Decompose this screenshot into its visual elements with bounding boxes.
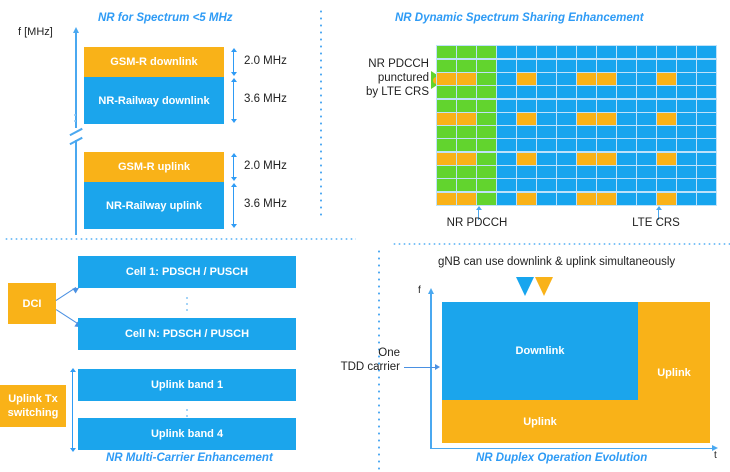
panel-title-spectrum: NR for Spectrum <5 MHz <box>98 12 233 24</box>
grid-cell-nr-data <box>537 100 556 112</box>
band-nr-railway-downlink: NR-Railway downlink <box>84 77 224 124</box>
grid-cell-lte-crs <box>657 193 676 205</box>
grid-cell-lte-crs <box>577 193 596 205</box>
grid-cell-nr-data <box>577 126 596 138</box>
panel-title-multicarrier: NR Multi-Carrier Enhancement <box>106 452 273 464</box>
grid-cell-nr-data <box>577 46 596 58</box>
bandwidth-arrow-4 <box>229 183 238 228</box>
grid-cell-nr-data <box>517 46 536 58</box>
divider-vertical-top <box>320 8 322 218</box>
grid-cell-nr-data <box>637 126 656 138</box>
grid-cell-nr-data <box>517 100 536 112</box>
grid-cell-lte-crs <box>457 113 476 125</box>
grid-cell-lte-crs <box>597 73 616 85</box>
duplex-block-downlink: Downlink <box>442 302 638 400</box>
duplex-axis-label-f: f <box>418 285 421 296</box>
grid-cell-nr-data <box>537 113 556 125</box>
grid-cell-nr-data <box>497 193 516 205</box>
grid-cell-nr-data <box>617 60 636 72</box>
grid-cell-nr-data <box>637 139 656 151</box>
grid-cell-nr-pdcch <box>457 86 476 98</box>
grid-cell-lte-crs <box>437 73 456 85</box>
grid-cell-nr-data <box>697 139 716 151</box>
grid-cell-nr-data <box>617 113 636 125</box>
grid-cell-nr-pdcch <box>477 179 496 191</box>
grid-cell-nr-data <box>617 166 636 178</box>
grid-cell-nr-pdcch <box>437 126 456 138</box>
grid-cell-nr-pdcch <box>457 179 476 191</box>
grid-cell-nr-data <box>617 86 636 98</box>
grid-cell-nr-data <box>697 113 716 125</box>
grid-cell-nr-data <box>517 126 536 138</box>
grid-cell-nr-pdcch <box>477 126 496 138</box>
grid-cell-nr-data <box>637 113 656 125</box>
grid-cell-lte-crs <box>597 153 616 165</box>
grid-cell-nr-data <box>557 113 576 125</box>
grid-cell-nr-pdcch <box>437 46 456 58</box>
downlink-triangle-icon <box>516 277 534 296</box>
grid-cell-nr-pdcch <box>437 60 456 72</box>
grid-cell-nr-data <box>577 179 596 191</box>
uplink-band-bar-1: Uplink band 1 <box>78 369 296 401</box>
bandwidth-label-3: 2.0 MHz <box>244 160 287 172</box>
grid-cell-nr-data <box>497 113 516 125</box>
band-gsmr-downlink: GSM-R downlink <box>84 47 224 77</box>
grid-cell-nr-data <box>697 153 716 165</box>
grid-cell-nr-data <box>697 73 716 85</box>
divider-horizontal-left <box>4 238 356 240</box>
grid-cell-nr-data <box>677 193 696 205</box>
grid-cell-nr-data <box>597 86 616 98</box>
grid-cell-nr-data <box>617 126 636 138</box>
grid-cell-nr-data <box>657 100 676 112</box>
grid-cell-nr-data <box>517 60 536 72</box>
grid-cell-nr-data <box>637 60 656 72</box>
bandwidth-arrow-2 <box>229 78 238 123</box>
duplex-carrier-pointer <box>404 364 440 371</box>
grid-cell-nr-data <box>657 126 676 138</box>
diagram-canvas: NR for Spectrum <5 MHz f [MHz] GSM-R dow… <box>0 0 730 472</box>
band-gsmr-uplink: GSM-R uplink <box>84 152 224 182</box>
dci-connector-lower <box>56 309 79 324</box>
grid-cell-nr-pdcch <box>477 46 496 58</box>
duplex-axis-label-t: t <box>714 450 717 461</box>
grid-cell-nr-data <box>677 126 696 138</box>
grid-cell-lte-crs <box>437 153 456 165</box>
grid-cell-nr-data <box>677 179 696 191</box>
grid-cell-nr-data <box>577 86 596 98</box>
axis-break-mark-upper <box>69 128 82 136</box>
grid-cell-nr-data <box>697 46 716 58</box>
grid-cell-nr-data <box>517 166 536 178</box>
grid-cell-nr-data <box>497 60 516 72</box>
grid-cell-nr-pdcch <box>457 126 476 138</box>
grid-cell-nr-data <box>497 179 516 191</box>
grid-cell-nr-data <box>697 100 716 112</box>
grid-cell-lte-crs <box>517 153 536 165</box>
grid-cell-nr-data <box>537 166 556 178</box>
grid-cell-nr-data <box>597 126 616 138</box>
grid-cell-nr-data <box>537 126 556 138</box>
grid-cell-nr-pdcch <box>437 179 456 191</box>
grid-cell-nr-data <box>637 166 656 178</box>
grid-cell-nr-data <box>617 100 636 112</box>
grid-cell-nr-pdcch <box>477 113 496 125</box>
grid-cell-lte-crs <box>657 113 676 125</box>
grid-cell-nr-pdcch <box>457 46 476 58</box>
grid-cell-nr-pdcch <box>457 100 476 112</box>
grid-cell-nr-data <box>557 46 576 58</box>
grid-cell-nr-data <box>657 166 676 178</box>
grid-cell-nr-data <box>637 46 656 58</box>
grid-cell-nr-data <box>557 126 576 138</box>
grid-cell-nr-data <box>497 86 516 98</box>
grid-cell-nr-data <box>537 153 556 165</box>
grid-cell-nr-data <box>557 86 576 98</box>
grid-cell-nr-data <box>637 179 656 191</box>
band-nr-railway-uplink: NR-Railway uplink <box>84 182 224 229</box>
grid-cell-nr-pdcch <box>457 60 476 72</box>
grid-cell-nr-data <box>657 139 676 151</box>
uplink-band-bar-4: Uplink band 4 <box>78 418 296 450</box>
grid-cell-nr-data <box>497 46 516 58</box>
grid-cell-nr-data <box>537 60 556 72</box>
grid-cell-nr-data <box>617 193 636 205</box>
grid-cell-nr-data <box>537 139 556 151</box>
grid-cell-nr-data <box>497 166 516 178</box>
grid-cell-nr-pdcch <box>457 139 476 151</box>
grid-cell-nr-data <box>657 60 676 72</box>
grid-cell-nr-pdcch <box>477 153 496 165</box>
grid-cell-nr-data <box>677 73 696 85</box>
grid-cell-nr-data <box>677 46 696 58</box>
grid-cell-nr-data <box>697 126 716 138</box>
grid-cell-nr-pdcch <box>457 166 476 178</box>
grid-cell-nr-pdcch <box>477 139 496 151</box>
axis-label-frequency: f [MHz] <box>18 26 53 38</box>
uplink-band-span-arrow <box>68 368 77 452</box>
grid-cell-nr-data <box>637 86 656 98</box>
grid-cell-nr-data <box>577 139 596 151</box>
grid-cell-nr-data <box>557 166 576 178</box>
grid-cell-lte-crs <box>437 113 456 125</box>
grid-cell-nr-data <box>677 60 696 72</box>
grid-cell-lte-crs <box>517 113 536 125</box>
grid-cell-nr-data <box>697 60 716 72</box>
grid-cell-nr-data <box>677 113 696 125</box>
grid-cell-nr-data <box>637 73 656 85</box>
grid-cell-nr-data <box>577 60 596 72</box>
grid-cell-nr-data <box>537 46 556 58</box>
uplink-tx-switching-box: Uplink Tx switching <box>0 385 66 427</box>
grid-cell-nr-pdcch <box>437 166 456 178</box>
bandwidth-label-4: 3.6 MHz <box>244 198 287 210</box>
grid-cell-nr-data <box>617 179 636 191</box>
grid-cell-lte-crs <box>517 73 536 85</box>
grid-cell-nr-data <box>697 166 716 178</box>
grid-cell-nr-data <box>597 166 616 178</box>
grid-cell-nr-pdcch <box>477 100 496 112</box>
duplex-headline: gNB can use downlink & uplink simultaneo… <box>438 256 675 268</box>
grid-cell-lte-crs <box>657 153 676 165</box>
grid-cell-lte-crs <box>457 73 476 85</box>
axis-break-dots <box>74 112 76 126</box>
bandwidth-label-2: 3.6 MHz <box>244 93 287 105</box>
grid-cell-nr-data <box>517 179 536 191</box>
grid-cell-nr-data <box>677 153 696 165</box>
grid-cell-nr-data <box>557 153 576 165</box>
grid-cell-nr-data <box>557 193 576 205</box>
dci-box: DCI <box>8 283 56 324</box>
grid-cell-nr-data <box>597 46 616 58</box>
grid-cell-nr-data <box>657 46 676 58</box>
dss-callout-text: NR PDCCH punctured by LTE CRS <box>333 57 429 99</box>
grid-cell-nr-data <box>617 139 636 151</box>
cells-ellipsis-dots <box>186 295 188 311</box>
grid-cell-nr-data <box>537 73 556 85</box>
grid-cell-nr-data <box>677 100 696 112</box>
grid-cell-lte-crs <box>577 73 596 85</box>
dss-resource-grid <box>436 45 717 206</box>
grid-cell-nr-data <box>677 139 696 151</box>
grid-cell-nr-data <box>517 86 536 98</box>
grid-cell-lte-crs <box>457 153 476 165</box>
grid-cell-nr-data <box>657 86 676 98</box>
grid-cell-nr-data <box>677 86 696 98</box>
grid-cell-nr-data <box>617 73 636 85</box>
grid-cell-nr-data <box>537 193 556 205</box>
grid-cell-nr-data <box>617 153 636 165</box>
f-axis-lower <box>75 140 77 235</box>
grid-cell-lte-crs <box>597 193 616 205</box>
grid-cell-nr-data <box>497 100 516 112</box>
grid-cell-nr-data <box>577 100 596 112</box>
grid-cell-nr-data <box>657 179 676 191</box>
grid-cell-lte-crs <box>577 153 596 165</box>
grid-cell-lte-crs <box>437 193 456 205</box>
grid-cell-nr-data <box>497 126 516 138</box>
grid-cell-nr-data <box>557 73 576 85</box>
grid-cell-nr-data <box>697 193 716 205</box>
grid-cell-nr-data <box>557 60 576 72</box>
grid-cell-nr-pdcch <box>437 100 456 112</box>
grid-cell-nr-data <box>677 166 696 178</box>
grid-cell-nr-pdcch <box>477 86 496 98</box>
grid-cell-nr-data <box>597 179 616 191</box>
grid-cell-nr-data <box>537 179 556 191</box>
grid-cell-nr-data <box>617 46 636 58</box>
grid-cell-nr-data <box>597 100 616 112</box>
grid-cell-nr-data <box>597 139 616 151</box>
grid-cell-nr-pdcch <box>477 73 496 85</box>
grid-cell-nr-data <box>557 179 576 191</box>
grid-cell-nr-data <box>597 60 616 72</box>
panel-title-dss: NR Dynamic Spectrum Sharing Enhancement <box>395 12 644 24</box>
grid-cell-nr-data <box>697 86 716 98</box>
bandwidth-label-1: 2.0 MHz <box>244 55 287 67</box>
grid-cell-nr-pdcch <box>477 60 496 72</box>
grid-cell-nr-data <box>577 166 596 178</box>
grid-cell-nr-data <box>637 153 656 165</box>
grid-cell-lte-crs <box>577 113 596 125</box>
grid-cell-nr-data <box>557 139 576 151</box>
grid-cell-nr-data <box>497 153 516 165</box>
grid-cell-lte-crs <box>457 193 476 205</box>
cell-bar-1: Cell 1: PDSCH / PUSCH <box>78 256 296 288</box>
grid-cell-nr-data <box>517 139 536 151</box>
grid-cell-nr-pdcch <box>477 166 496 178</box>
grid-cell-nr-data <box>497 139 516 151</box>
grid-cell-nr-data <box>557 100 576 112</box>
grid-cell-lte-crs <box>657 73 676 85</box>
grid-cell-lte-crs <box>597 113 616 125</box>
uplink-tx-switching-label: Uplink Tx switching <box>8 392 59 420</box>
grid-cell-nr-pdcch <box>477 193 496 205</box>
duplex-f-axis <box>430 294 432 449</box>
uplink-triangle-icon <box>535 277 553 296</box>
grid-cell-nr-pdcch <box>437 139 456 151</box>
grid-cell-lte-crs <box>517 193 536 205</box>
duplex-block-uplink-right: Uplink <box>638 302 710 443</box>
bandwidth-arrow-1 <box>229 48 238 76</box>
duplex-carrier-label: One TDD carrier <box>338 346 400 374</box>
divider-horizontal-right <box>392 243 730 245</box>
duplex-t-axis <box>430 448 712 450</box>
grid-cell-nr-data <box>637 100 656 112</box>
cell-bar-n: Cell N: PDSCH / PUSCH <box>78 318 296 350</box>
grid-label-lte-crs: LTE CRS <box>622 217 690 229</box>
grid-cell-nr-pdcch <box>437 86 456 98</box>
bandwidth-arrow-3 <box>229 153 238 181</box>
panel-title-duplex: NR Duplex Operation Evolution <box>476 452 647 464</box>
grid-cell-nr-data <box>537 86 556 98</box>
grid-label-nr-pdcch: NR PDCCH <box>440 217 514 229</box>
grid-cell-nr-data <box>637 193 656 205</box>
grid-cell-nr-data <box>697 179 716 191</box>
grid-cell-nr-data <box>497 73 516 85</box>
duplex-block-uplink-bottom: Uplink <box>442 400 638 443</box>
